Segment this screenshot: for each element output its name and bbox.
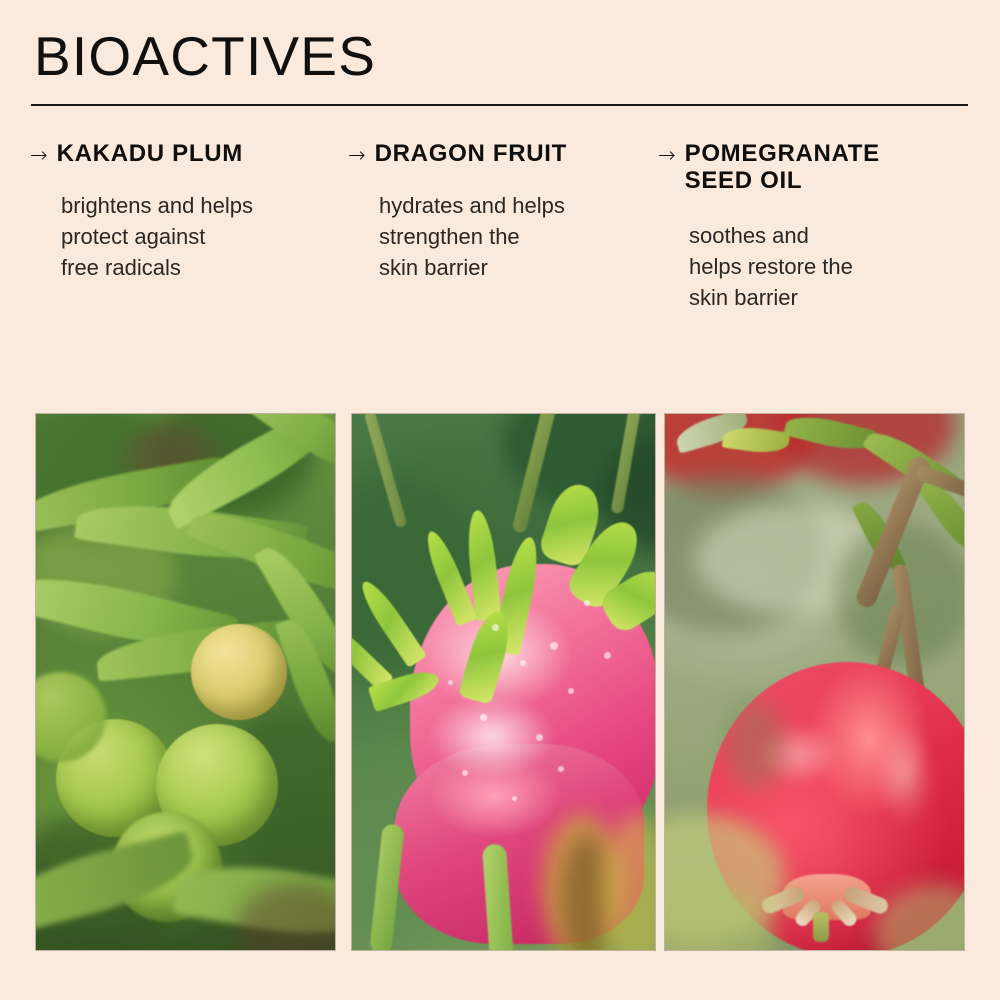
- kakadu-plum-image: [36, 414, 335, 950]
- bioactive-image-row: [0, 0, 1000, 1000]
- pomegranate-image: [665, 414, 964, 950]
- dragon-fruit-image: [352, 414, 655, 950]
- bioactives-infographic: BIOACTIVES → KAKADU PLUM brightens and h…: [0, 0, 1000, 1000]
